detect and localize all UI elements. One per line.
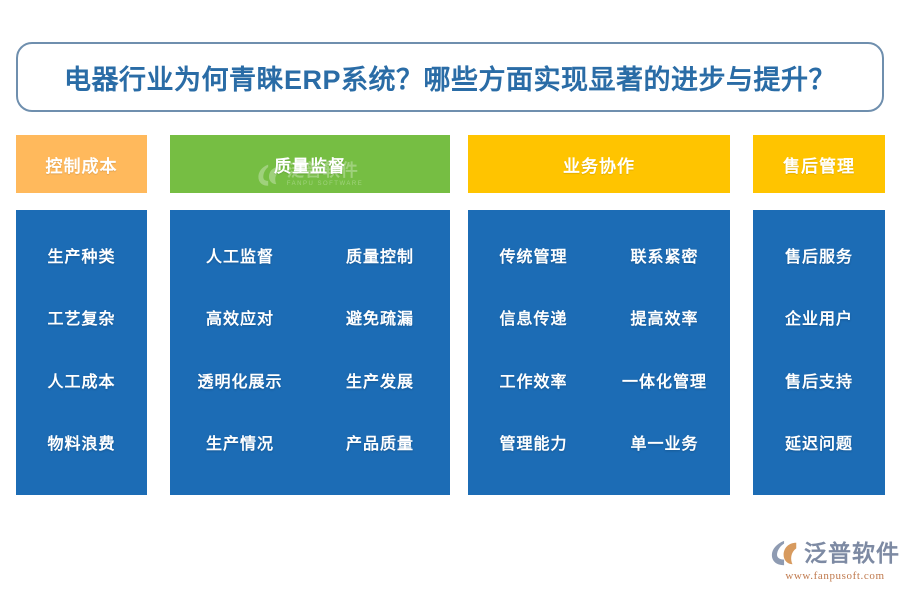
item-group: 生产种类 工艺复杂 人工成本 物料浪费: [16, 224, 147, 473]
list-item: 工作效率: [499, 349, 567, 411]
list-item: 生产情况: [206, 411, 274, 473]
item-group: 质量控制 避免疏漏 生产发展 产品质量: [310, 224, 450, 473]
list-item: 高效应对: [206, 286, 274, 348]
column-header-label: 质量监督: [274, 152, 346, 177]
list-item: 企业用户: [785, 286, 853, 348]
column-header-label: 售后管理: [783, 152, 855, 177]
page-title: 电器行业为何青睐ERP系统？哪些方面实现显著的进步与提升？: [64, 58, 836, 97]
list-item: 提高效率: [630, 286, 698, 348]
list-item: 工艺复杂: [47, 286, 115, 348]
list-item: 售后支持: [785, 349, 853, 411]
list-item: 延迟问题: [785, 411, 853, 473]
brand-logo: 泛普软件 www.fanpusoft.com: [770, 538, 900, 582]
list-item: 物料浪费: [47, 411, 115, 473]
brand-name: 泛普软件: [804, 542, 900, 565]
list-item: 透明化展示: [197, 349, 282, 411]
brand-logo-row: 泛普软件: [770, 538, 900, 568]
watermark-subtitle: FANPU SOFTWARE: [287, 181, 363, 187]
infographic-canvas: 电器行业为何青睐ERP系统？哪些方面实现显著的进步与提升？ 控制成本 泛普软件 …: [0, 0, 900, 600]
list-item: 联系紧密: [630, 224, 698, 286]
column-header-business-collaboration: 业务协作: [468, 135, 730, 193]
list-item: 人工监督: [206, 224, 274, 286]
list-item: 单一业务: [630, 411, 698, 473]
fanpu-logo-icon: [770, 538, 800, 568]
list-item: 生产发展: [346, 349, 414, 411]
list-item: 售后服务: [785, 224, 853, 286]
item-group: 传统管理 信息传递 工作效率 管理能力: [468, 224, 599, 473]
list-item: 生产种类: [47, 224, 115, 286]
column-header-quality-supervision: 泛普软件 FANPU SOFTWARE 质量监督: [170, 135, 450, 193]
list-item: 避免疏漏: [346, 286, 414, 348]
column-header-after-sales: 售后管理: [753, 135, 885, 193]
column-header-label: 业务协作: [563, 152, 635, 177]
item-group: 人工监督 高效应对 透明化展示 生产情况: [170, 224, 310, 473]
list-item: 信息传递: [499, 286, 567, 348]
list-item: 产品质量: [346, 411, 414, 473]
list-item: 人工成本: [47, 349, 115, 411]
item-group: 售后服务 企业用户 售后支持 延迟问题: [753, 224, 885, 473]
content-panel-quality-supervision: 人工监督 高效应对 透明化展示 生产情况 质量控制 避免疏漏 生产发展 产品质量: [170, 210, 450, 495]
title-box: 电器行业为何青睐ERP系统？哪些方面实现显著的进步与提升？: [16, 42, 884, 112]
content-panel-control-cost: 生产种类 工艺复杂 人工成本 物料浪费: [16, 210, 147, 495]
column-header-label: 控制成本: [46, 152, 118, 177]
content-panel-after-sales: 售后服务 企业用户 售后支持 延迟问题: [753, 210, 885, 495]
item-group: 联系紧密 提高效率 一体化管理 单一业务: [599, 224, 730, 473]
brand-url: www.fanpusoft.com: [785, 570, 884, 582]
list-item: 管理能力: [499, 411, 567, 473]
list-item: 质量控制: [346, 224, 414, 286]
content-panel-business-collaboration: 传统管理 信息传递 工作效率 管理能力 联系紧密 提高效率 一体化管理 单一业务: [468, 210, 730, 495]
list-item: 传统管理: [499, 224, 567, 286]
column-header-control-cost: 控制成本: [16, 135, 147, 193]
list-item: 一体化管理: [622, 349, 707, 411]
